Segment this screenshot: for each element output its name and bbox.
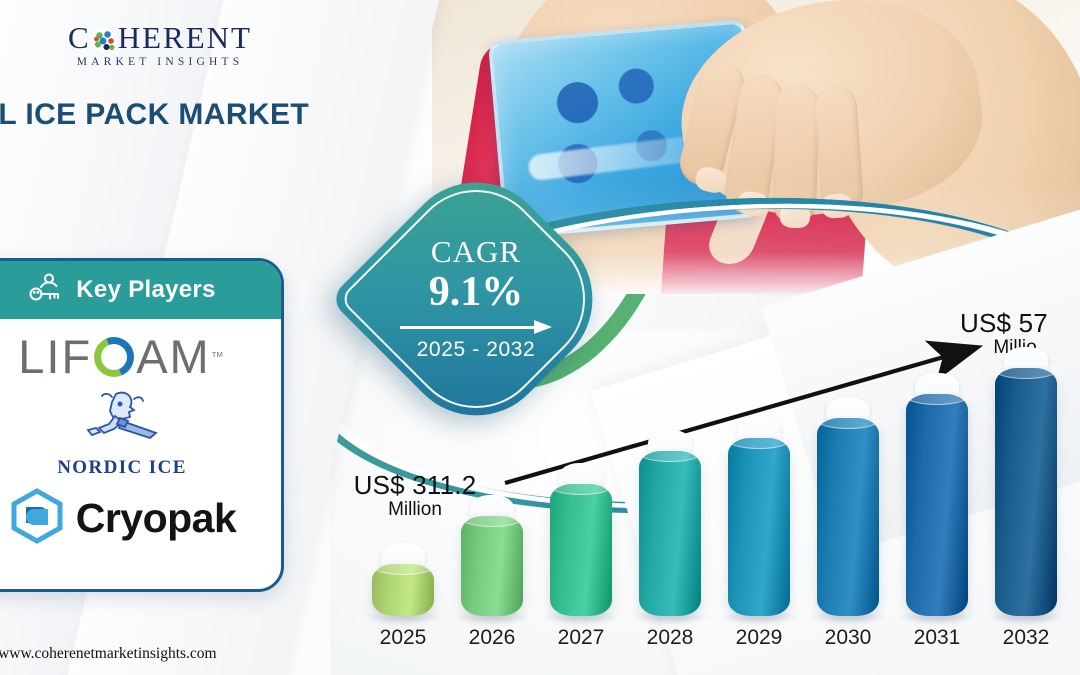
lifoam-o-ring-icon [88,330,140,382]
logo-wordmark: C HERENT [52,22,268,53]
source-text: e :- www.coherenetmarketinsights.com [0,645,217,663]
cryopak-hexagon-icon [8,487,66,550]
nordic-ice-logo: NORDIC ICE [57,388,187,479]
page-title: EL ICE PACK MARKET [0,98,398,132]
lifoam-text-am: AM [136,329,211,384]
infographic-canvas: C HERENT MARKET INSIGHTS EL ICE PACK MAR… [0,0,1080,675]
logo-letter-c: C [68,22,91,53]
nordic-ice-name: NORDIC ICE [57,457,187,479]
logo-wordmark-rest: HERENT [118,22,252,53]
nordic-ice-viking-icon [76,388,168,455]
cagr-badge-content: CAGR 9.1% 2025 - 2032 [372,195,580,403]
key-players-label: Key Players [76,276,215,304]
logo-tagline: MARKET INSIGHTS [52,56,268,68]
lifoam-text-li: LIF [18,329,92,384]
coherent-market-insights-logo: C HERENT MARKET INSIGHTS [52,22,268,68]
cagr-value: 9.1% [429,269,524,315]
cryopak-logo: Cryopak [8,487,237,550]
key-players-card: Key Players LIF AM ™ [0,258,284,592]
cryopak-name: Cryopak [76,495,237,542]
cagr-label: CAGR [431,236,521,267]
globe-icon [92,28,117,53]
cagr-period: 2025 - 2032 [417,338,536,362]
key-person-icon [28,273,64,308]
lifoam-logo: LIF AM ™ [18,329,225,384]
key-players-list: LIF AM ™ NORDIC ICE [0,319,281,550]
key-players-header: Key Players [0,261,281,319]
lifoam-trademark: ™ [211,349,226,364]
right-arrow-icon [400,320,552,334]
